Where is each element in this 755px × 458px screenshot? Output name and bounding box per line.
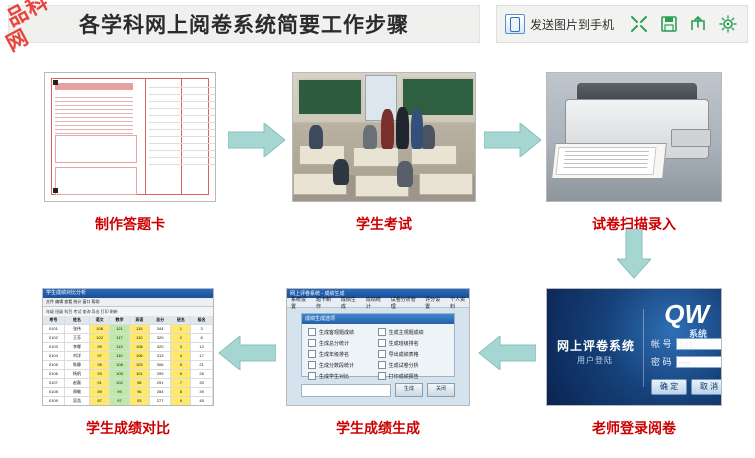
table-cell: 陈静 [65,361,90,369]
table-cell: 33 [191,379,213,387]
dialog-footer: 生成 关闭 [301,383,455,397]
password-input[interactable]: •••• [676,356,722,368]
menu-item-2[interactable]: 成绩生成 [341,296,360,310]
table-cell: 320 [150,343,172,351]
table-cell: 97 [90,352,110,360]
desk-2 [353,147,399,167]
student-2 [363,125,377,149]
table-cell: 344 [150,325,172,333]
column-header: 数学 [110,316,130,324]
scanned-papers [556,147,657,175]
menu-item-3[interactable]: 成绩统计 [366,296,385,310]
checkbox-icon[interactable] [378,372,386,380]
table-cell: 277 [150,397,172,405]
grades-table-thumbnail[interactable]: 学生成绩对比分析 文件 编辑 查看 统计 窗口 帮助 年级 班级 科目 考试 查… [42,288,214,406]
step-2-caption: 学生考试 [292,214,476,234]
sheet-corner-tl [53,80,58,85]
checkbox-row[interactable]: 打印成绩报告 [378,372,440,380]
table-cell: 105 [110,370,130,378]
checkbox-label: 导出成绩表格 [389,351,419,358]
table-cell: 刘洋 [65,352,90,360]
checkbox-row[interactable]: 生成主观题成绩 [378,328,440,336]
column-header: 姓名 [65,316,90,324]
checkbox-row[interactable]: 生成班级排名 [378,339,440,347]
table-cell: 102 [90,334,110,342]
table-cell: 99 [110,388,130,396]
sheet-corner-bl [53,188,58,193]
column-header: 语文 [90,316,110,324]
step-5-node: 网上评卷系统 - 成绩生成 系统设置 题卡制作 成绩生成 成绩统计 试卷分析管理… [286,288,470,406]
scanner-image [547,73,721,201]
table-cell: 0104 [43,352,65,360]
column-header: 总分 [150,316,172,324]
settings-gear-icon[interactable] [715,11,741,37]
table-cell: 周敏 [65,388,90,396]
table-cell: 102 [110,379,130,387]
flow-diagram: 制作答题卡 [0,46,755,458]
table-cell: 6 [171,370,191,378]
table-cell: 121 [110,325,130,333]
table-cell: 110 [110,352,130,360]
table-cell: 3 [171,343,191,351]
classroom-exam-thumbnail[interactable] [292,72,476,202]
checkbox-icon[interactable] [308,350,316,358]
dialog-checkbox-group: 生成客观题成绩 生成主观题成绩 生成总分统计 生成班级排名 生成年级排名 导出成… [302,324,454,384]
table-cell: 1 [171,325,191,333]
table-cell: 9 [171,397,191,405]
checkbox-row[interactable]: 生成总分统计 [308,339,370,347]
checkbox-label: 生成年级排名 [319,351,349,358]
fullscreen-icon[interactable] [626,11,652,37]
table-cell: 17 [191,352,213,360]
checkbox-row[interactable]: 生成学生对比 [308,372,370,380]
table-cell: 0103 [43,343,65,351]
step-3-node: 试卷扫描录入 [546,72,722,202]
checkbox-row[interactable]: 生成年级排名 [308,350,370,358]
table-cell: 李娜 [65,343,90,351]
dialog-options-panel: 成绩生成选项 生成客观题成绩 生成主观题成绩 生成总分统计 生成班级排名 生成年… [301,313,455,377]
page-title-box: 各学科网上阅卷系统简要工作步骤 [8,5,480,43]
account-label: 帐 号 [651,337,672,350]
table-cell: 103 [130,361,150,369]
student-1 [309,125,323,149]
table-cell: 117 [110,334,130,342]
password-label: 密 码 [651,355,672,368]
menu-item-1[interactable]: 题卡制作 [316,296,335,310]
table-cell: 0106 [43,370,65,378]
table-cell: 39 [191,388,213,396]
step-1-caption: 制作答题卡 [44,214,216,234]
table-cell: 12 [191,343,213,351]
table-cell: 108 [110,361,130,369]
table-row[interactable]: 0104刘洋97110106313417 [43,352,213,361]
checkbox-icon[interactable] [378,339,386,347]
table-cell: 110 [130,334,150,342]
scanner-thumbnail[interactable] [546,72,722,202]
student-5 [397,161,413,187]
sheet-lines-col3 [185,87,211,171]
dialog-close-button[interactable]: 关闭 [427,383,455,397]
table-row[interactable]: 0103李娜99113108320312 [43,343,213,352]
account-field-row: 帐 号 101 [651,337,722,350]
arrow-step2-step3 [484,123,542,157]
table-cell: 96 [130,388,150,396]
table-cell: 45 [191,397,213,405]
arrow-step3-step4 [617,229,651,279]
table-cell: 101 [130,370,150,378]
table-cell: 291 [150,379,172,387]
checkbox-label: 生成分数段统计 [319,362,354,369]
table-cell: 4 [171,352,191,360]
login-ok-button[interactable]: 确 定 [651,379,687,395]
table-cell: 329 [150,334,172,342]
table-cell: 0101 [43,325,65,333]
checkbox-row[interactable]: 生成分数段统计 [308,361,370,369]
table-cell: 8 [171,388,191,396]
table-cell: 0109 [43,397,65,405]
windows-dialog-thumbnail[interactable]: 网上评卷系统 - 成绩生成 系统设置 题卡制作 成绩生成 成绩统计 试卷分析管理… [286,288,470,406]
send-to-phone-icon [505,14,525,34]
dialog-panel-title: 成绩生成选项 [302,314,454,324]
answer-sheet-image [45,73,215,201]
checkbox-label: 生成班级排名 [389,340,419,347]
table-cell: 97 [110,397,130,405]
table-row[interactable]: 0106杨帆93105101299626 [43,370,213,379]
grades-table-image: 学生成绩对比分析 文件 编辑 查看 统计 窗口 帮助 年级 班级 科目 考试 查… [43,289,213,405]
step-5-caption: 学生成绩生成 [286,418,470,438]
table-row[interactable]: 0107赵磊9110298291733 [43,379,213,388]
arrow-step4-step5 [478,336,536,370]
checkbox-icon[interactable] [308,328,316,336]
table-cell: 杨帆 [65,370,90,378]
login-screen-image: 网上评卷系统 用户登陆 QW 系统 帐 号 101 密 码 •••• 确 定 取… [547,289,721,405]
table-rows-container: 0101张伟108121115344130102王芳10211711032928… [43,325,213,405]
table-cell: 8 [191,334,213,342]
table-cell: 吴浩 [65,397,90,405]
menu-item-6[interactable]: 个人资料 [450,296,469,310]
grades-menubar[interactable]: 文件 编辑 查看 统计 窗口 帮助 [43,298,213,307]
teacher-1 [381,109,394,149]
column-header: 级名 [191,316,213,324]
table-cell: 99 [90,343,110,351]
table-cell: 26 [191,370,213,378]
table-cell: 113 [110,343,130,351]
page-title: 各学科网上阅卷系统简要工作步骤 [79,9,409,39]
table-cell: 108 [130,343,150,351]
dialog-text-input[interactable] [301,384,391,397]
arrow-step5-step6 [218,336,276,370]
sheet-id-rows [55,97,133,137]
dialog-menubar: 系统设置 题卡制作 成绩生成 成绩统计 试卷分析管理 评分设置 个人资料 [287,298,469,308]
grades-titlebar: 学生成绩对比分析 [43,289,213,298]
table-cell: 王芳 [65,334,90,342]
table-cell: 299 [150,370,172,378]
login-cancel-button[interactable]: 取 消 [691,379,722,395]
table-header-row: 考号 姓名 语文 数学 英语 总分 班名 级名 [43,316,213,325]
menu-item-5[interactable]: 评分设置 [425,296,444,310]
send-to-phone-button[interactable]: 发送图片到手机 [497,7,622,41]
table-row[interactable]: 0102王芳10211711032928 [43,334,213,343]
checkbox-row[interactable]: 生成试卷分析 [378,361,440,369]
column-header: 班名 [171,316,191,324]
table-cell: 0105 [43,361,65,369]
table-cell: 306 [150,361,172,369]
table-cell: 赵磊 [65,379,90,387]
table-cell: 3 [191,325,213,333]
sheet-block-a [55,135,137,163]
table-cell: 106 [130,352,150,360]
table-cell: 98 [130,379,150,387]
checkbox-label: 生成学生对比 [319,373,349,380]
student-4 [333,159,349,185]
checkbox-label: 生成客观题成绩 [319,329,354,336]
checkbox-label: 生成试卷分析 [389,362,419,369]
table-cell: 91 [90,379,110,387]
step-6-caption: 学生成绩对比 [42,418,214,438]
login-screen-thumbnail[interactable]: 网上评卷系统 用户登陆 QW 系统 帐 号 101 密 码 •••• 确 定 取… [546,288,722,406]
sheet-header-band [55,83,133,90]
checkbox-icon[interactable] [308,339,316,347]
table-cell: 95 [90,361,110,369]
answer-sheet-thumbnail[interactable] [44,72,216,202]
teacher-3 [411,109,423,149]
desk-6 [419,173,473,195]
password-field-row: 密 码 •••• [651,355,722,368]
checkbox-label: 生成主观题成绩 [389,329,424,336]
table-cell: 313 [150,352,172,360]
table-cell: 2 [171,334,191,342]
blackboard-left [297,78,363,116]
table-cell: 7 [171,379,191,387]
table-cell: 108 [90,325,110,333]
login-system-sub: 用户登陆 [577,355,613,366]
column-header: 英语 [130,316,150,324]
column-header: 考号 [43,316,65,324]
table-cell: 93 [130,397,150,405]
table-cell: 87 [90,397,110,405]
table-row[interactable]: 0108周敏899996284839 [43,388,213,397]
save-icon[interactable] [656,11,682,37]
header-bar: 各学科网上阅卷系统简要工作步骤 发送图片到手机 [0,0,755,47]
teacher-2 [396,107,409,149]
checkbox-icon[interactable] [378,350,386,358]
share-icon[interactable] [686,11,712,37]
table-cell: 93 [90,370,110,378]
account-input[interactable]: 101 [676,338,722,350]
login-logo: QW [664,299,709,330]
checkbox-icon[interactable] [308,372,316,380]
table-cell: 5 [171,361,191,369]
checkbox-icon[interactable] [308,361,316,369]
arrow-step1-step2 [228,123,286,157]
sheet-divider-1 [145,78,146,195]
dialog-generate-button[interactable]: 生成 [395,383,423,397]
step-4-caption: 老师登录阅卷 [546,418,722,438]
table-cell: 89 [90,388,110,396]
checkbox-label: 打印成绩报告 [389,373,419,380]
checkbox-icon[interactable] [378,328,386,336]
table-row[interactable]: 0101张伟10812111534413 [43,325,213,334]
send-to-phone-label: 发送图片到手机 [530,16,614,33]
image-toolbar: 发送图片到手机 [496,5,748,43]
table-row[interactable]: 0109吴浩879793277945 [43,397,213,405]
table-cell: 21 [191,361,213,369]
table-cell: 115 [130,325,150,333]
scanner-control-panel [671,129,711,147]
menu-item-4[interactable]: 试卷分析管理 [391,296,419,310]
menu-item-0[interactable]: 系统设置 [291,296,310,310]
login-system-name: 网上评卷系统 [557,337,635,354]
classroom-exam-image [293,73,475,201]
table-cell: 0108 [43,388,65,396]
student-3 [421,125,435,149]
grades-table-body[interactable]: 考号 姓名 语文 数学 英语 总分 班名 级名 0101张伟1081211153… [43,316,213,405]
table-cell: 张伟 [65,325,90,333]
checkbox-row[interactable]: 生成客观题成绩 [308,328,370,336]
step-1-node: 制作答题卡 [44,72,216,202]
table-row[interactable]: 0105陈静95108103306521 [43,361,213,370]
step-2-node: 学生考试 [292,72,476,202]
table-cell: 0107 [43,379,65,387]
step-6-node: 学生成绩对比分析 文件 编辑 查看 统计 窗口 帮助 年级 班级 科目 考试 查… [42,288,214,406]
table-cell: 0102 [43,334,65,342]
sheet-block-b [55,167,137,195]
table-cell: 284 [150,388,172,396]
login-divider [643,309,644,387]
checkbox-label: 生成总分统计 [319,340,349,347]
checkbox-row[interactable]: 导出成绩表格 [378,350,440,358]
checkbox-icon[interactable] [378,361,386,369]
step-4-node: 网上评卷系统 用户登陆 QW 系统 帐 号 101 密 码 •••• 确 定 取… [546,288,722,406]
windows-dialog-image: 网上评卷系统 - 成绩生成 系统设置 题卡制作 成绩生成 成绩统计 试卷分析管理… [287,289,469,405]
